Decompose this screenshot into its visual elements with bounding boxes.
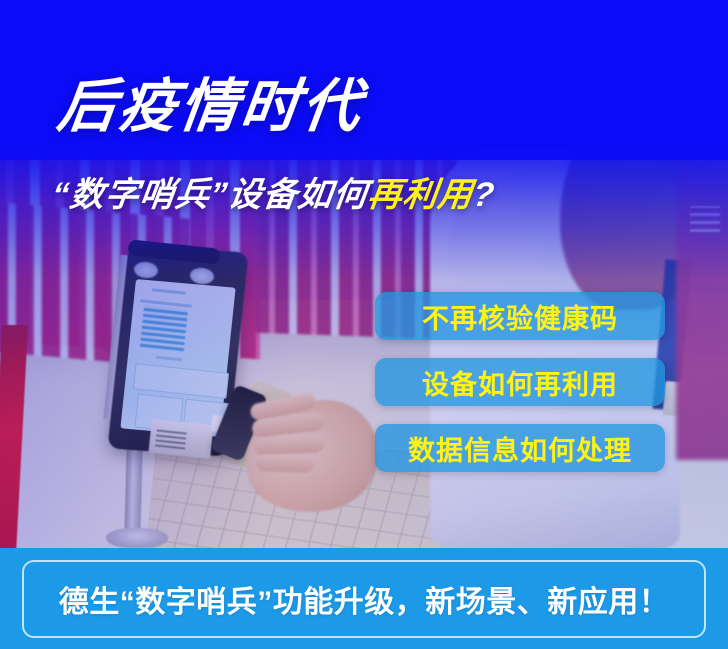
subtitle-lead: “数字哨兵”设备如何 (50, 176, 371, 214)
topic-pill-device-reuse[interactable]: 设备如何再利用 (375, 358, 665, 406)
topic-pill-data-handling[interactable]: 数据信息如何处理 (375, 424, 665, 472)
page-subtitle: “数字哨兵”设备如何再利用? (50, 178, 497, 212)
topic-pill-list: 不再核验健康码 设备如何再利用 数据信息如何处理 (375, 292, 665, 472)
subtitle-highlight: 再利用 (366, 176, 476, 214)
footer-banner-text: 德生“数字哨兵”功能升级，新场景、新应用！ (59, 577, 670, 621)
promo-poster: 后疫情时代 “数字哨兵”设备如何再利用? 不再核验健康码 设备如何再利用 数据信… (0, 0, 728, 649)
footer-banner: 德生“数字哨兵”功能升级，新场景、新应用！ (0, 548, 728, 649)
topic-pill-health-code[interactable]: 不再核验健康码 (375, 292, 665, 340)
footer-banner-frame: 德生“数字哨兵”功能升级，新场景、新应用！ (22, 560, 706, 638)
subtitle-question-mark: ? (471, 176, 497, 214)
page-title: 后疫情时代 (54, 78, 366, 136)
